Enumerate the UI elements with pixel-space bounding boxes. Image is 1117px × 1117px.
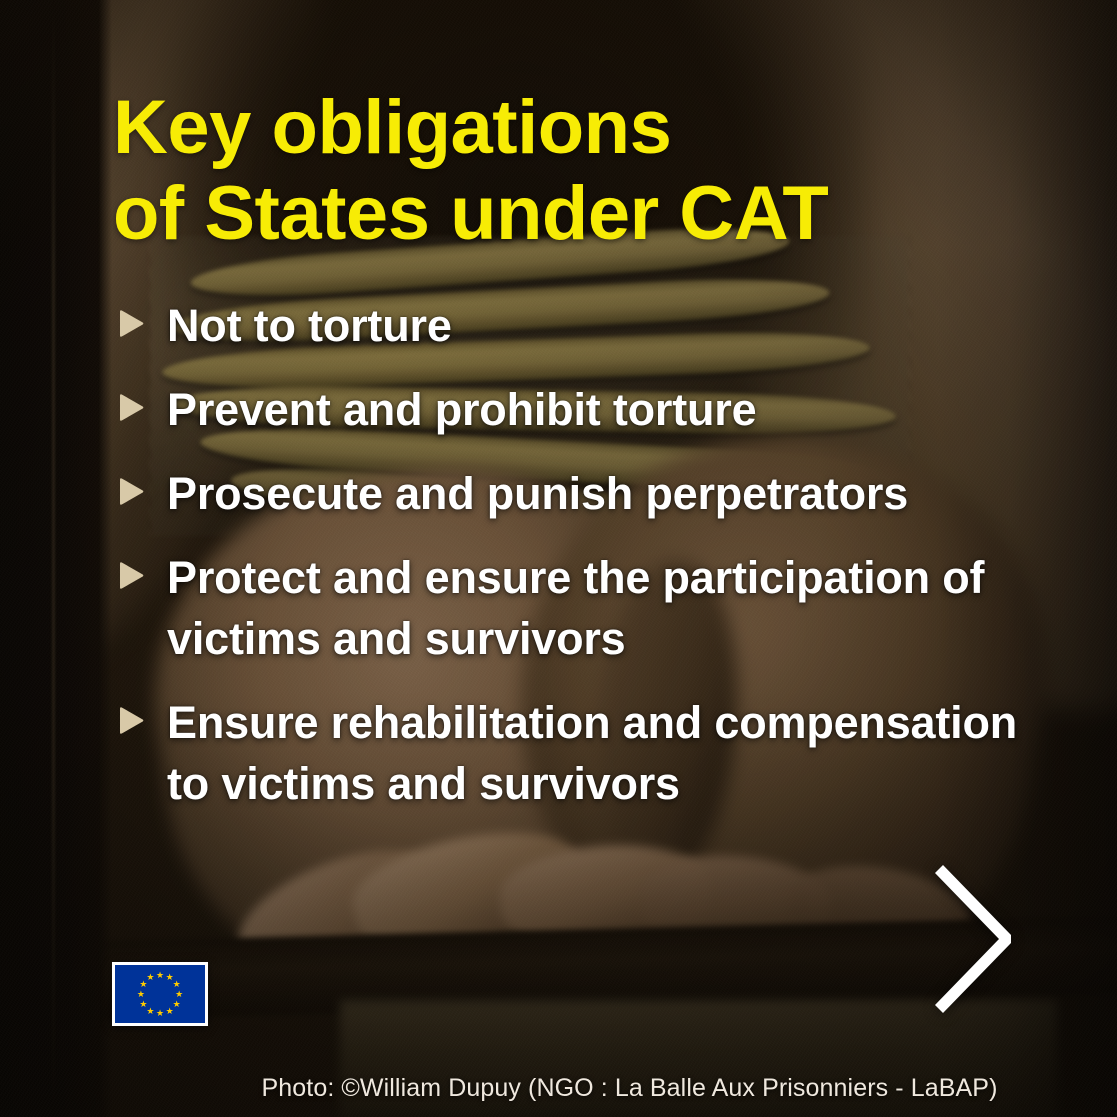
triangle-right-icon [118, 393, 145, 423]
eu-flag-star: ★ [173, 1000, 181, 1008]
eu-flag-star: ★ [139, 1000, 147, 1008]
chevron-right-icon [933, 861, 1021, 1017]
list-item: Not to torture [118, 295, 1048, 356]
slide-content: Key obligations of States under CAT Not … [0, 0, 1117, 1117]
eu-flag-star: ★ [137, 990, 145, 998]
eu-flag-field: ★★★★★★★★★★★★ [115, 965, 205, 1023]
list-item-label: Not to torture [167, 295, 452, 356]
list-item-label: Protect and ensure the participation of … [167, 547, 1048, 669]
list-item-label: Prevent and prohibit torture [167, 379, 756, 440]
eu-flag-star: ★ [156, 971, 164, 979]
eu-flag-star: ★ [146, 1007, 154, 1015]
list-item: Ensure rehabilitation and compensation t… [118, 692, 1048, 814]
european-union-flag: ★★★★★★★★★★★★ [112, 962, 208, 1026]
eu-flag-star: ★ [175, 990, 183, 998]
eu-flag-star: ★ [156, 1009, 164, 1017]
triangle-right-icon [118, 561, 145, 591]
eu-flag-star: ★ [166, 1007, 174, 1015]
triangle-right-icon [118, 706, 145, 736]
list-item-label: Ensure rehabilitation and compensation t… [167, 692, 1048, 814]
eu-flag-star: ★ [173, 980, 181, 988]
slide: Key obligations of States under CAT Not … [0, 0, 1117, 1117]
list-item-label: Prosecute and punish perpetrators [167, 463, 908, 524]
triangle-right-icon [118, 477, 145, 507]
photo-credit: Photo: ©William Dupuy (NGO : La Balle Au… [0, 1074, 1109, 1103]
list-item: Protect and ensure the participation of … [118, 547, 1048, 669]
page-title: Key obligations of States under CAT [113, 85, 993, 257]
list-item: Prosecute and punish perpetrators [118, 463, 1048, 524]
triangle-right-icon [118, 309, 145, 339]
eu-flag-star: ★ [146, 973, 154, 981]
next-slide-button[interactable] [933, 861, 1021, 1017]
obligations-list: Not to torture Prevent and prohibit tort… [118, 295, 1048, 837]
list-item: Prevent and prohibit torture [118, 379, 1048, 440]
